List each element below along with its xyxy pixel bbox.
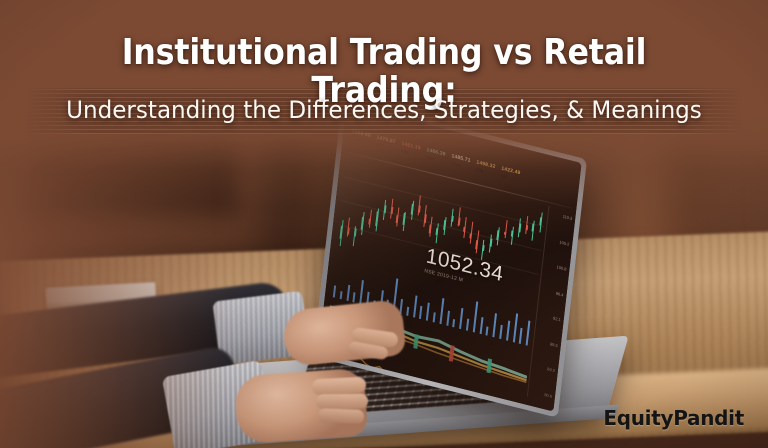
candle-body xyxy=(411,203,414,215)
candle-body xyxy=(418,205,421,212)
candle-body xyxy=(353,228,356,237)
candle-body xyxy=(511,230,514,237)
candle-body xyxy=(347,228,350,235)
volume-bar xyxy=(526,321,531,346)
page-subtitle: Understanding the Differences, Strategie… xyxy=(15,96,752,125)
candle-body xyxy=(525,225,528,230)
subtitle-block: Understanding the Differences, Strategie… xyxy=(0,96,768,125)
candle-body xyxy=(457,217,460,226)
axis-tick: 100.8 xyxy=(556,264,566,271)
candle-body xyxy=(375,212,379,227)
candle-body xyxy=(429,225,432,234)
brand-logo[interactable]: EquityPandit xyxy=(603,406,744,430)
ticker-item: 1466.39Low xyxy=(426,147,446,163)
finger-front-2 xyxy=(316,394,368,410)
volume-bar xyxy=(499,325,503,339)
candle-body xyxy=(539,217,542,226)
candle-body xyxy=(436,228,439,235)
volume-bar xyxy=(453,319,456,328)
candle-body xyxy=(403,213,406,225)
volume-bar xyxy=(419,306,422,320)
volume-bar xyxy=(353,292,356,302)
laptop-screen: 1456.88Open1470.57Prev1461.15High1466.39… xyxy=(318,105,581,412)
candle-body xyxy=(396,215,399,224)
finger-front-3 xyxy=(318,408,364,424)
volume-bar xyxy=(426,302,430,320)
candle-body xyxy=(489,238,492,247)
axis-tick: 110.3 xyxy=(562,214,572,221)
candle-body xyxy=(532,224,535,233)
article-banner: 1456.88Open1470.57Prev1461.15High1466.39… xyxy=(0,0,768,448)
ticker-item: 1498.32Chg xyxy=(475,160,495,176)
volume-bar xyxy=(359,280,364,304)
axis-tick: 105.2 xyxy=(559,239,569,246)
candle-body xyxy=(518,224,521,233)
volume-bar xyxy=(512,314,517,343)
volume-bar xyxy=(473,302,478,333)
volume-bar xyxy=(479,317,483,334)
axis-tick: 80.6 xyxy=(544,392,552,399)
candle-body xyxy=(443,220,446,230)
candle-body xyxy=(361,216,364,230)
ticker-item: 1461.15High xyxy=(401,141,421,157)
volume-bar xyxy=(413,295,417,317)
finger-front-1 xyxy=(312,377,367,396)
axis-tick: 88.5 xyxy=(550,341,558,348)
candle-wick xyxy=(504,220,507,238)
candle-body xyxy=(497,230,500,240)
volume-bar xyxy=(346,284,350,301)
candle-body xyxy=(368,218,371,225)
ticker-item: 1456.88Open xyxy=(351,129,371,145)
volume-bar xyxy=(506,321,510,341)
volume-bar xyxy=(406,307,409,316)
candle-body xyxy=(470,233,473,238)
volume-bar xyxy=(446,311,450,326)
volume-bar xyxy=(459,308,463,329)
volume-bar xyxy=(519,328,523,344)
volume-bar xyxy=(433,312,436,323)
volume-bar xyxy=(333,285,336,297)
volume-bar xyxy=(486,326,489,336)
ticker-item: 1485.71Close xyxy=(450,154,470,170)
candle-body xyxy=(482,245,485,252)
axis-tick: 92.1 xyxy=(553,316,561,323)
volume-bar xyxy=(466,319,469,331)
volume-bar xyxy=(339,291,342,299)
candle-body xyxy=(451,215,454,222)
ticker-item: 1470.57Prev xyxy=(376,135,396,151)
volume-bar xyxy=(439,298,444,325)
candle-body xyxy=(475,240,478,250)
candle-body xyxy=(504,232,506,236)
ticker-item: 1422.49Vol xyxy=(500,166,520,182)
candle-body xyxy=(339,226,342,240)
volume-bar xyxy=(493,314,498,338)
axis-tick: 96.4 xyxy=(556,290,564,297)
trading-terminal: 1456.88Open1470.57Prev1461.15High1466.39… xyxy=(318,105,581,412)
axis-tick: 84.2 xyxy=(547,366,555,373)
